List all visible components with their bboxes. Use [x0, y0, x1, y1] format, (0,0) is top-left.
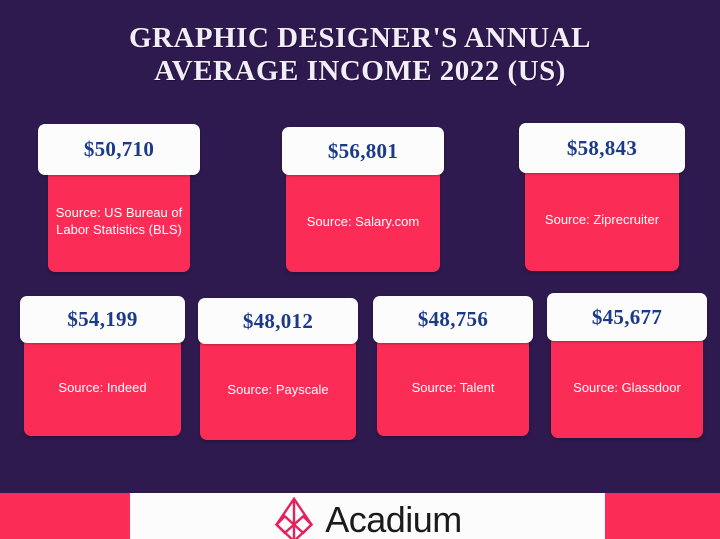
stat-card-value: $50,710	[84, 137, 154, 162]
stat-card-value: $45,677	[592, 305, 662, 330]
stat-card-payscale: $48,012 Source: Payscale	[198, 298, 358, 440]
stat-card-source: Source: Indeed	[52, 379, 152, 396]
stat-card-source: Source: Payscale	[221, 381, 334, 398]
stat-card-source: Source: US Bureau of Labor Statistics (B…	[48, 204, 190, 238]
stat-card-body: Source: Ziprecruiter	[525, 168, 679, 271]
stat-card-source: Source: Talent	[406, 379, 501, 396]
stat-card-value: $56,801	[328, 139, 398, 164]
page-title: GRAPHIC DESIGNER'S ANNUAL AVERAGE INCOME…	[0, 22, 720, 88]
stat-card-value-header: $56,801	[282, 127, 444, 175]
stat-card-body: Source: US Bureau of Labor Statistics (B…	[48, 169, 190, 272]
stat-card-value-header: $54,199	[20, 296, 185, 343]
stat-card-bls: $50,710 Source: US Bureau of Labor Stati…	[38, 124, 200, 272]
stat-card-body: Source: Indeed	[24, 338, 181, 436]
stat-card-talent: $48,756 Source: Talent	[373, 296, 533, 436]
stat-card-body: Source: Glassdoor	[551, 336, 703, 438]
title-line-1: GRAPHIC DESIGNER'S ANNUAL	[0, 22, 720, 55]
stat-card-ziprecruiter: $58,843 Source: Ziprecruiter	[519, 123, 685, 271]
stat-card-value: $48,756	[418, 307, 488, 332]
stat-card-value-header: $50,710	[38, 124, 200, 175]
stat-card-value-header: $48,012	[198, 298, 358, 344]
stat-card-salary-com: $56,801 Source: Salary.com	[282, 127, 444, 272]
footer-brand-panel: Acadium	[130, 493, 605, 539]
stat-card-value-header: $45,677	[547, 293, 707, 341]
stat-card-value: $54,199	[67, 307, 137, 332]
stat-card-body: Source: Salary.com	[286, 170, 440, 272]
stat-card-value: $58,843	[567, 136, 637, 161]
brand-lockup: Acadium	[273, 497, 462, 539]
stat-card-body: Source: Payscale	[200, 339, 356, 440]
stat-card-value-header: $58,843	[519, 123, 685, 173]
stat-card-glassdoor: $45,677 Source: Glassdoor	[547, 293, 707, 438]
footer-bar: Acadium	[0, 493, 720, 539]
stat-card-source: Source: Ziprecruiter	[539, 211, 665, 228]
stat-card-value-header: $48,756	[373, 296, 533, 343]
infographic-canvas: GRAPHIC DESIGNER'S ANNUAL AVERAGE INCOME…	[0, 0, 720, 539]
stat-card-source: Source: Glassdoor	[567, 379, 687, 396]
stat-card-source: Source: Salary.com	[301, 213, 425, 230]
stat-card-body: Source: Talent	[377, 338, 529, 436]
title-line-2: AVERAGE INCOME 2022 (US)	[0, 55, 720, 88]
stat-card-value: $48,012	[243, 309, 313, 334]
acadium-diamond-logo-icon	[273, 497, 315, 539]
stat-card-indeed: $54,199 Source: Indeed	[20, 296, 185, 436]
brand-name: Acadium	[325, 500, 462, 539]
